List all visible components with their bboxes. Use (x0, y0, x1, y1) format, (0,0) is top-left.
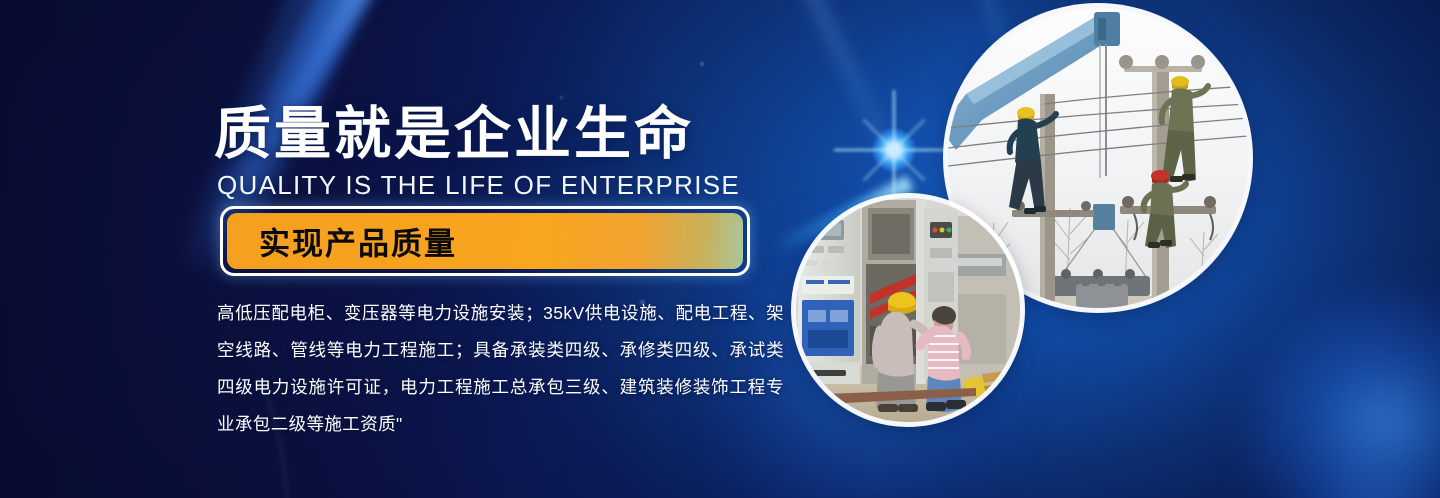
cta-button-label: 实现产品质量 (259, 219, 457, 264)
switchgear-workers-illustration (796, 198, 1020, 422)
headline-chinese: 质量就是企业生命 (214, 106, 694, 163)
switchgear-workers-photo (796, 198, 1020, 422)
promo-banner: 质量就是企业生命 QUALITY IS THE LIFE OF ENTERPRI… (0, 0, 1440, 498)
cta-button[interactable]: 实现产品质量 (220, 206, 750, 276)
banner-content: 质量就是企业生命 QUALITY IS THE LIFE OF ENTERPRI… (214, 0, 834, 498)
body-description: 高低压配电柜、变压器等电力设施安装；35kV供电设施、配电工程、架空线路、管线等… (217, 295, 784, 443)
headline-english: QUALITY IS THE LIFE OF ENTERPRISE (217, 172, 740, 198)
